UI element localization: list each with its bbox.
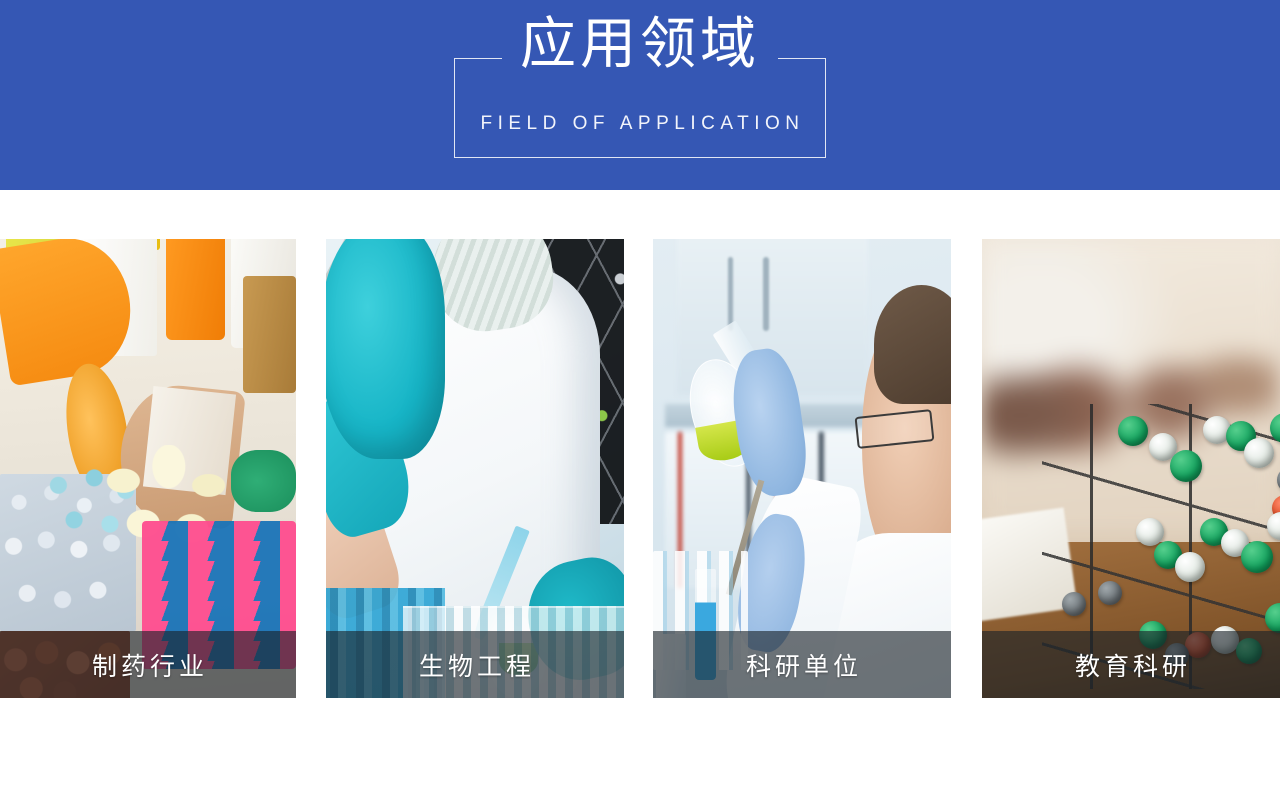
application-card-research-institute[interactable]: 科研单位 — [653, 239, 951, 698]
application-card-pharmaceutical[interactable]: 制药行业 — [0, 239, 296, 698]
card-caption-bar: 生物工程 — [326, 631, 624, 698]
application-card-education-research[interactable]: 教育科研 — [982, 239, 1280, 698]
application-card-bioengineering[interactable]: 生物工程 — [326, 239, 624, 698]
application-fields-page: 应用领域 FIELD OF APPLICATION — [0, 0, 1280, 785]
card-caption-bar: 制药行业 — [0, 631, 296, 698]
bioengineering-pipette-photo — [326, 239, 624, 698]
card-caption-bar: 教育科研 — [982, 631, 1280, 698]
card-caption-label: 生物工程 — [415, 647, 535, 683]
education-molecular-model-photo — [982, 239, 1280, 698]
research-flask-photo — [653, 239, 951, 698]
page-title-english: FIELD OF APPLICATION — [476, 113, 805, 135]
pharmacy-pill-bottles-photo — [0, 239, 296, 698]
card-caption-label: 制药行业 — [88, 647, 208, 683]
card-caption-bar: 科研单位 — [653, 631, 951, 698]
title-frame: 应用领域 FIELD OF APPLICATION — [454, 58, 826, 158]
page-banner: 应用领域 FIELD OF APPLICATION — [0, 0, 1280, 190]
banner-content: 应用领域 FIELD OF APPLICATION — [0, 0, 1280, 190]
application-card-strip: 制药行业 生物工程 — [0, 239, 1280, 698]
page-title-chinese: 应用领域 — [502, 13, 778, 77]
card-caption-label: 教育科研 — [1071, 647, 1191, 683]
card-caption-label: 科研单位 — [742, 647, 862, 683]
